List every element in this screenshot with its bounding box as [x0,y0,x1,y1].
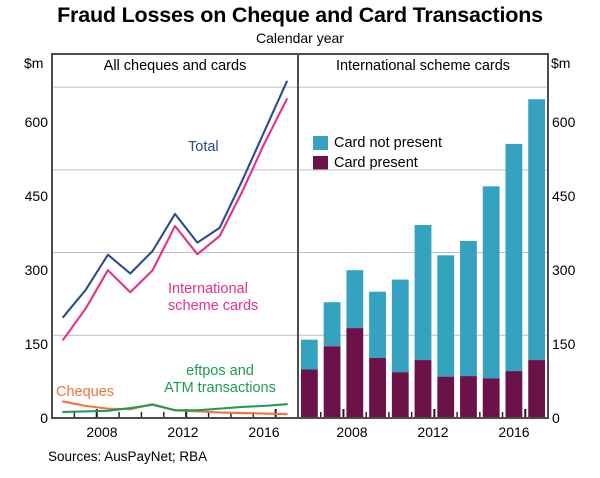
bar-card-present-2009 [369,358,386,418]
bar-card-not-present-2008 [346,270,363,328]
plot-area [0,0,600,478]
bar-card-not-present-2006 [301,340,318,370]
bar-card-not-present-2014 [483,186,500,378]
bar-card-not-present-2016 [528,99,545,360]
bar-card-present-2008 [346,328,363,418]
bar-card-present-2011 [415,360,432,418]
bar-card-present-2007 [324,346,341,418]
bar-card-present-2014 [483,378,500,418]
line-series-total [63,82,287,317]
bar-card-present-2016 [528,360,545,418]
line-series-international-scheme-cards [63,99,287,339]
bar-card-not-present-2009 [369,292,386,358]
bar-card-present-2012 [437,377,454,418]
bar-card-present-2010 [392,372,409,418]
bar-card-not-present-2007 [324,302,341,346]
bar-card-not-present-2012 [437,255,454,376]
bar-card-present-2013 [460,376,477,418]
bar-card-not-present-2015 [506,144,523,371]
sources-note: Sources: AusPayNet; RBA [48,448,207,465]
bar-card-not-present-2011 [415,225,432,360]
bar-card-not-present-2010 [392,280,409,373]
bar-card-not-present-2013 [460,241,477,376]
bar-card-present-2006 [301,369,318,418]
chart-figure: Fraud Losses on Cheque and Card Transact… [0,0,600,478]
bar-card-present-2015 [506,371,523,418]
